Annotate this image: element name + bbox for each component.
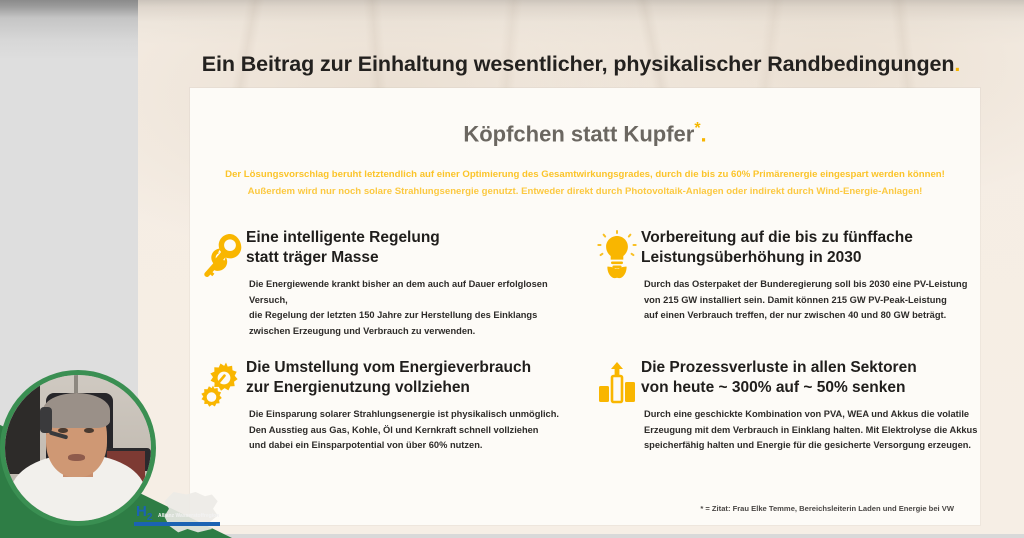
- footnote: * = Zitat: Frau Elke Temme, Bereichsleit…: [700, 504, 954, 513]
- lead-line-1: Der Lösungsvorschlag beruht letztendlich…: [190, 166, 980, 183]
- point-heading-2: Vorbereitung auf die bis zu fünffache Le…: [641, 228, 986, 268]
- point-item-4: Die Prozessverluste in allen Sektoren vo…: [585, 358, 980, 483]
- point-heading-3-line1: Die Umstellung vom Energieverbrauch: [246, 359, 531, 376]
- webcam-background-door: [5, 384, 40, 475]
- point-text-2-line2: von 215 GW installiert sein. Damit könne…: [644, 295, 947, 305]
- points-grid: Eine intelligente Regelung statt träger …: [190, 228, 980, 478]
- point-text-4-line3: speicherfähig halten und Energie für die…: [644, 440, 971, 450]
- h2-region-logo: H2 Allianz Wasserstoffregion: [134, 490, 238, 536]
- point-heading-4: Die Prozessverluste in allen Sektoren vo…: [641, 358, 986, 398]
- slide-header-texture: [138, 0, 1024, 100]
- slide: Ein Beitrag zur Einhaltung wesentlicher,…: [138, 0, 1024, 534]
- content-panel: Köpfchen statt Kupfer*. Der Lösungsvorsc…: [190, 88, 980, 525]
- point-heading-1-line1: Eine intelligente Regelung: [246, 229, 440, 246]
- webcam-person-headset: [40, 407, 52, 433]
- webcam-person-hair: [43, 393, 110, 428]
- point-heading-4-line2: von heute ~ 300% auf ~ 50% senken: [641, 379, 905, 396]
- point-heading-3-line2: zur Energienutzung vollziehen: [246, 379, 470, 396]
- point-heading-2-line1: Vorbereitung auf die bis zu fünffache: [641, 229, 913, 246]
- point-heading-1-line2: statt träger Masse: [246, 249, 379, 266]
- point-text-2-line3: auf einen Verbrauch treffen, der nur zwi…: [644, 310, 946, 320]
- point-text-1-line1: Die Energiewende krankt bisher an dem au…: [249, 279, 548, 305]
- lead-line-2: Außerdem wird nur noch solare Strahlungs…: [190, 183, 980, 200]
- point-heading-3: Die Umstellung vom Energieverbrauch zur …: [246, 358, 576, 398]
- key-icon: [200, 230, 248, 282]
- point-heading-1: Eine intelligente Regelung statt träger …: [246, 228, 576, 268]
- panel-heading-text: Köpfchen statt Kupfer: [463, 121, 694, 146]
- point-text-1-line2: die Regelung der letzten 150 Jahre zur H…: [249, 310, 537, 320]
- point-text-3: Die Einsparung solarer Strahlungsenergie…: [249, 407, 576, 454]
- point-body-4: Die Prozessverluste in allen Sektoren vo…: [641, 358, 986, 454]
- point-text-4-line2: Erzeugung mit dem Verbrauch in Einklang …: [644, 425, 977, 435]
- point-item-3: Die Umstellung vom Energieverbrauch zur …: [190, 358, 585, 483]
- point-item-2: Vorbereitung auf die bis zu fünffache Le…: [585, 228, 980, 353]
- point-heading-2-line2: Leistungsüberhöhung in 2030: [641, 249, 861, 266]
- slide-title-text: Ein Beitrag zur Einhaltung wesentlicher,…: [202, 52, 955, 76]
- point-item-1: Eine intelligente Regelung statt träger …: [190, 228, 585, 353]
- point-text-4: Durch eine geschickte Kombination von PV…: [644, 407, 986, 454]
- logo-h: H: [136, 503, 147, 520]
- logo-underline: [134, 522, 220, 526]
- point-text-2: Durch das Osterpaket der Bunderegierung …: [644, 277, 986, 324]
- webcam-person-eye-left: [58, 428, 68, 434]
- presentation-stage: Ein Beitrag zur Einhaltung wesentlicher,…: [0, 0, 1024, 534]
- panel-heading-dot: .: [701, 121, 707, 146]
- point-text-4-line1: Durch eine geschickte Kombination von PV…: [644, 409, 969, 419]
- point-body-3: Die Umstellung vom Energieverbrauch zur …: [246, 358, 576, 454]
- point-text-3-line2: Den Ausstieg aus Gas, Kohle, Öl und Kern…: [249, 425, 538, 435]
- point-text-3-line1: Die Einsparung solarer Strahlungsenergie…: [249, 409, 559, 419]
- logo-tagline: Allianz Wasserstoffregion: [158, 513, 219, 519]
- bar-chart-up-icon: [595, 360, 643, 412]
- webcam-overlay[interactable]: H2 Allianz Wasserstoffregion: [0, 378, 242, 538]
- point-text-1: Die Energiewende krankt bisher an dem au…: [249, 277, 576, 339]
- point-text-3-line3: und dabei ein Einsparpotential von über …: [249, 440, 483, 450]
- slide-title: Ein Beitrag zur Einhaltung wesentlicher,…: [138, 52, 1024, 77]
- webcam-video-circle[interactable]: [0, 370, 156, 526]
- point-heading-4-line1: Die Prozessverluste in allen Sektoren: [641, 359, 917, 376]
- webcam-video-frame: [5, 375, 151, 521]
- lead-paragraph: Der Lösungsvorschlag beruht letztendlich…: [190, 166, 980, 200]
- webcam-person-mouth: [68, 454, 86, 461]
- logo-h2-text: H2: [136, 504, 152, 523]
- point-body-1: Eine intelligente Regelung statt träger …: [246, 228, 576, 339]
- point-body-2: Vorbereitung auf die bis zu fünffache Le…: [641, 228, 986, 324]
- point-text-2-line1: Durch das Osterpaket der Bunderegierung …: [644, 279, 967, 289]
- eco-lightbulb-icon: [595, 230, 643, 282]
- panel-heading: Köpfchen statt Kupfer*.: [190, 120, 980, 147]
- point-text-1-line3: zwischen Erzeugung und Verbrauch zu verw…: [249, 326, 475, 336]
- slide-title-accent-dot: .: [954, 52, 960, 76]
